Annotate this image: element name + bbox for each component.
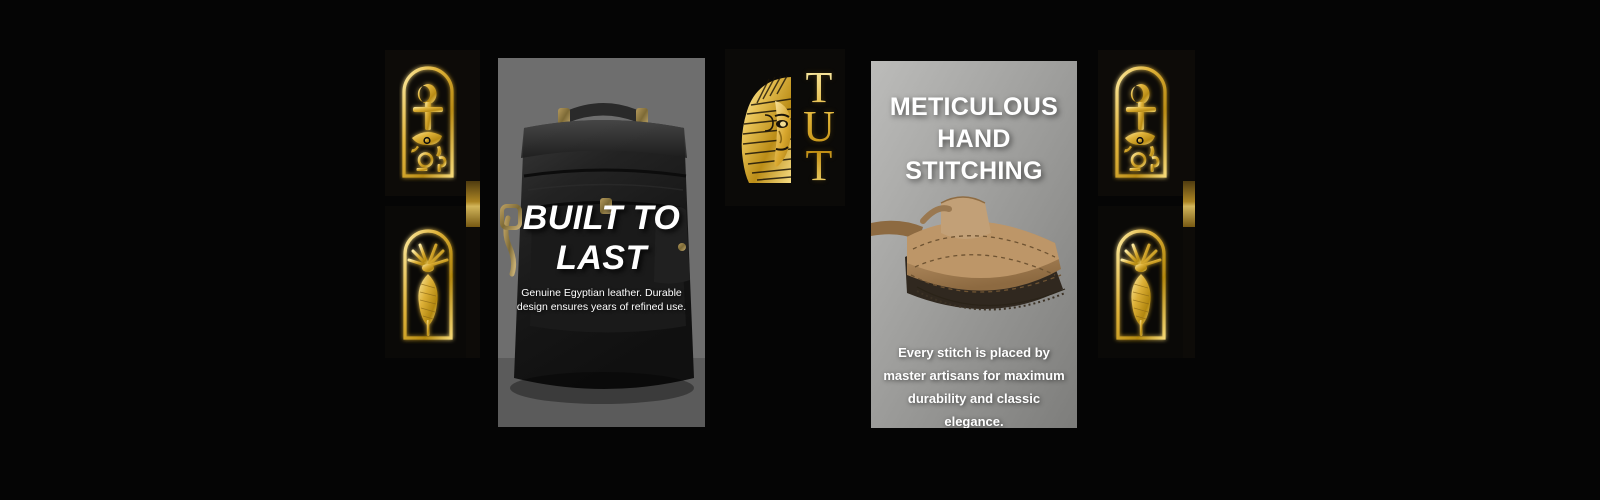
cartouche-ankh-eye-icon (1112, 64, 1170, 182)
tut-letter-3: T (806, 147, 833, 186)
cartouche-lotus-feather-icon (399, 220, 457, 344)
pharaoh-mask-icon (735, 69, 797, 187)
cartouche-lotus-feather-icon (1112, 220, 1170, 344)
glyph-card-right-top[interactable] (1098, 50, 1183, 196)
panel-built-headline: BUILT TO LAST (498, 198, 705, 278)
glyph-card-left-top[interactable] (385, 50, 470, 196)
glyph-card-left-bottom[interactable] (385, 206, 470, 358)
panel-hand-stitching[interactable]: METICULOUS HAND STITCHING Every stitch i… (871, 61, 1077, 428)
carousel-stage: BUILT TO LAST Genuine Egyptian leather. … (0, 0, 1600, 500)
panel-stitching-subtext: Every stitch is placed by master artisan… (871, 341, 1077, 428)
glyph-card-right-bottom[interactable] (1098, 206, 1183, 358)
panel-brand-logo[interactable]: T U T (725, 49, 845, 206)
panel-built-subtext: Genuine Egyptian leather. Durable design… (498, 286, 705, 314)
tut-wordmark: T U T (803, 69, 835, 185)
glyph-card-left-occluded[interactable] (466, 50, 480, 358)
panel-built-to-last[interactable]: BUILT TO LAST Genuine Egyptian leather. … (498, 58, 705, 427)
cartouche-ankh-eye-icon (399, 64, 457, 182)
glyph-sliver-edge (1183, 181, 1195, 227)
glyph-sliver-edge (466, 181, 480, 227)
glyph-card-right-occluded[interactable] (1183, 50, 1195, 358)
panel-stitching-headline: METICULOUS HAND STITCHING (871, 91, 1077, 187)
